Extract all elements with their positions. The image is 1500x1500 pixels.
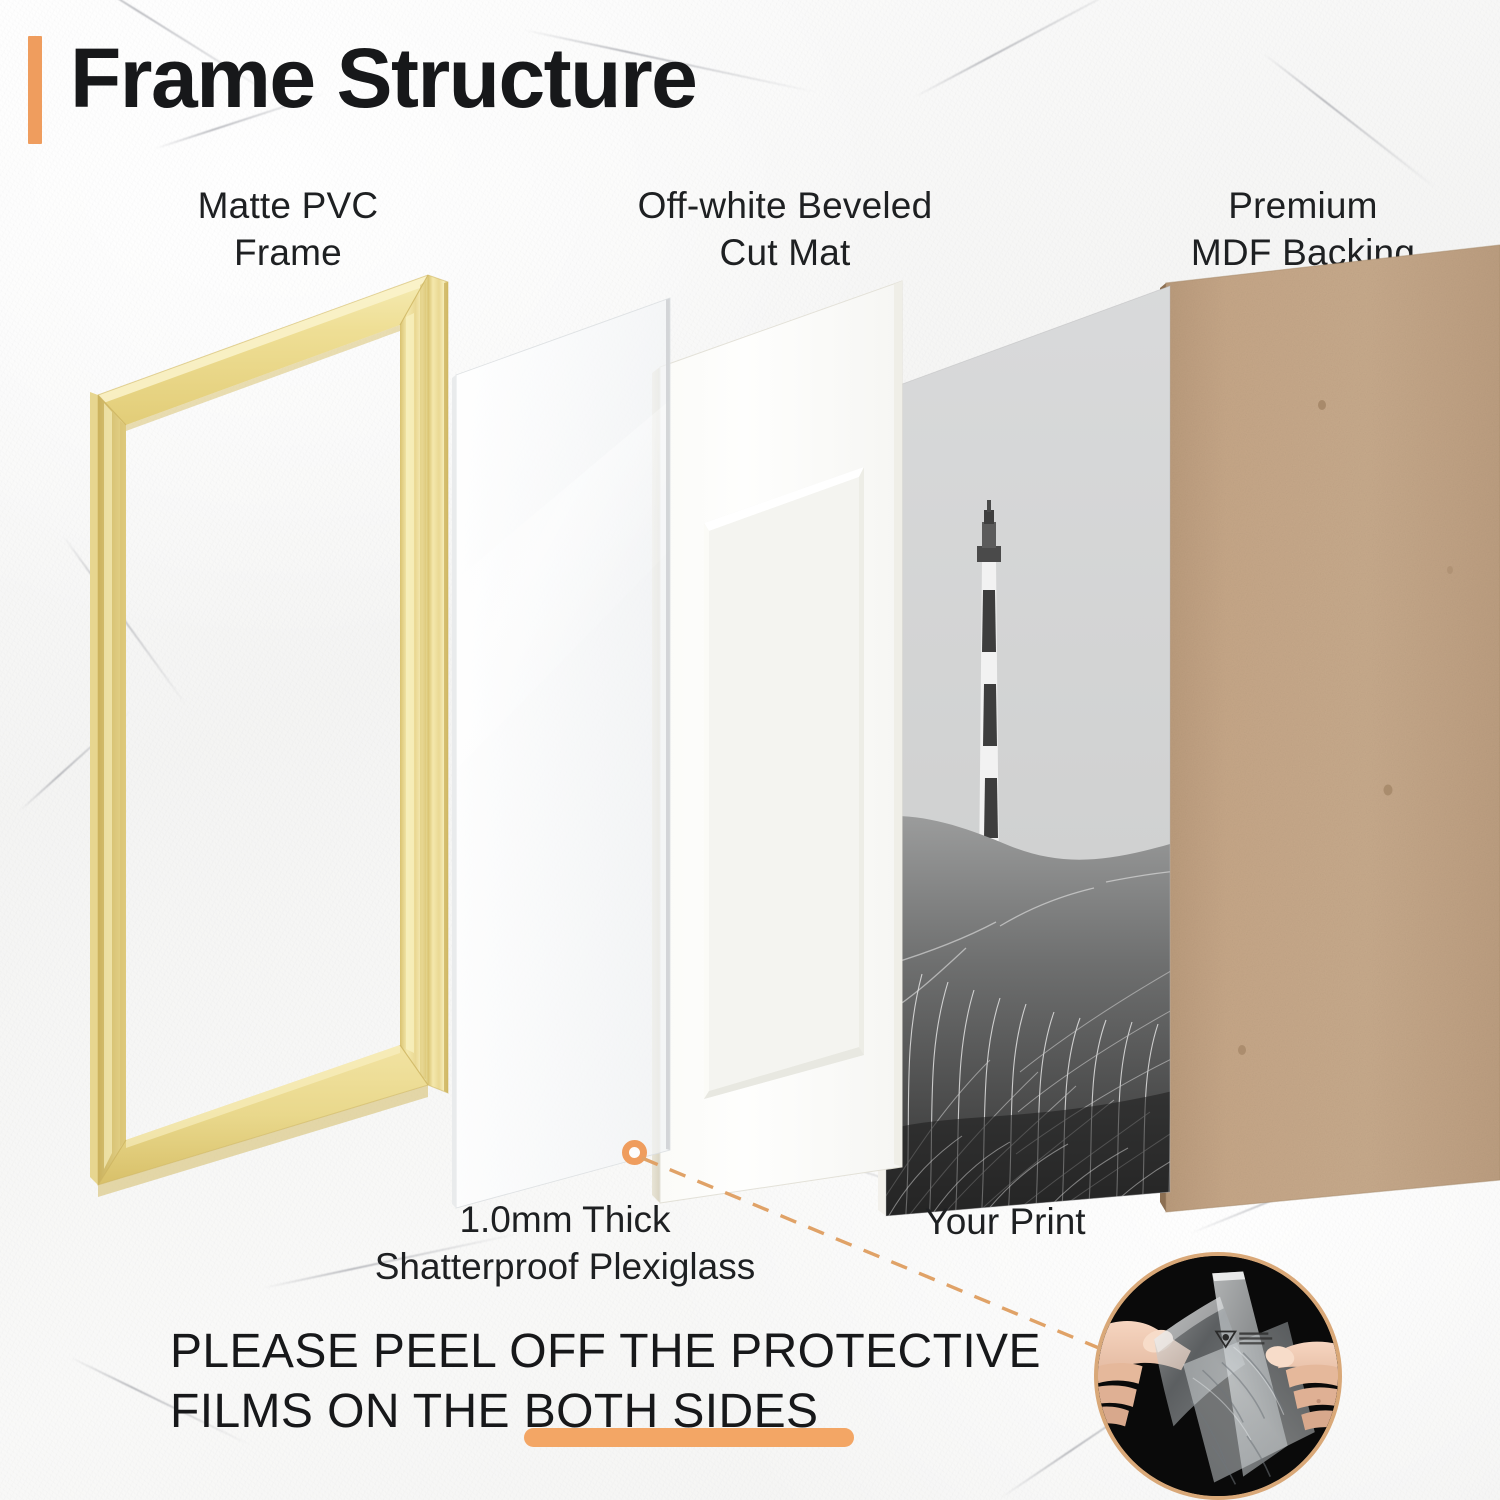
layer-matte-pvc-frame — [70, 255, 470, 1215]
infographic-canvas: Frame Structure Matte PVC Frame Off-whit… — [0, 0, 1500, 1500]
peel-film-photo — [1094, 1252, 1342, 1500]
layer-mdf-backing — [1150, 250, 1500, 1250]
peel-film-illustration — [1098, 1256, 1338, 1496]
peel-notice-text: PLEASE PEEL OFF THE PROTECTIVE FILMS ON … — [170, 1322, 1060, 1443]
